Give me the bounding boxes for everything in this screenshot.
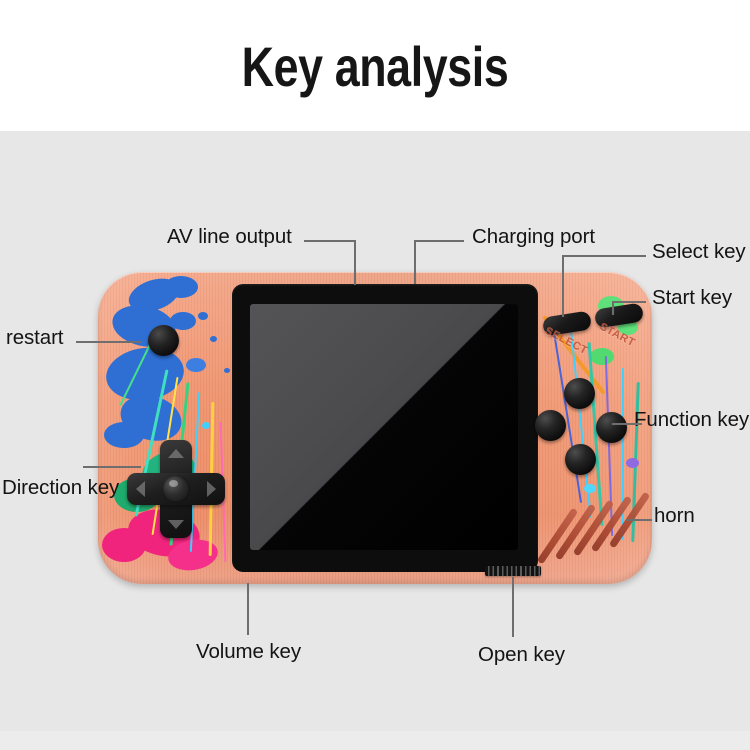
header-bar: Key analysis: [0, 0, 750, 131]
callout-label-function-key: Function key: [634, 409, 749, 431]
product-infographic: Key analysis: [0, 0, 750, 750]
leader-charging-port-h: [414, 240, 464, 242]
callout-label-av-line-output: AV line output: [167, 226, 292, 248]
leader-direction-key-h: [83, 466, 141, 468]
arrow-left-icon: [136, 481, 145, 497]
callout-label-restart: restart: [6, 327, 63, 349]
leader-av-line-output-h: [304, 240, 356, 242]
leader-volume-key-v: [247, 583, 249, 635]
callout-label-select-key: Select key: [652, 241, 746, 263]
dpad-center-hub: [162, 475, 190, 503]
callout-label-start-key: Start key: [652, 287, 732, 309]
leader-horn-h: [626, 519, 652, 521]
arrow-right-icon: [207, 481, 216, 497]
arrow-up-icon: [168, 449, 184, 458]
callout-label-open-key: Open key: [478, 644, 565, 666]
callout-label-charging-port: Charging port: [472, 226, 595, 248]
leader-open-key-v: [512, 577, 514, 637]
action-button-left[interactable]: [535, 410, 566, 441]
callout-label-volume-key: Volume key: [196, 641, 301, 663]
page-title: Key analysis: [75, 36, 675, 98]
lcd-screen[interactable]: [250, 304, 518, 550]
leader-start-key-v: [612, 301, 614, 315]
callout-label-direction-key: Direction key: [2, 477, 119, 499]
action-button-bottom[interactable]: [565, 444, 596, 475]
arrow-down-icon: [168, 520, 184, 529]
leader-restart-h: [76, 341, 142, 343]
leader-start-key-h: [612, 301, 646, 303]
footer-strip: [0, 731, 750, 750]
leader-charging-port-v: [414, 240, 416, 284]
function-button[interactable]: [596, 412, 627, 443]
leader-function-key-h: [612, 423, 642, 425]
leader-select-key-v: [562, 255, 564, 317]
restart-button[interactable]: [148, 325, 179, 356]
leader-av-line-output-v: [354, 240, 356, 285]
callout-label-horn: horn: [654, 505, 695, 527]
direction-pad[interactable]: [127, 440, 225, 538]
screen-bezel: [232, 284, 538, 572]
handheld-console-body: SELECT START: [98, 272, 652, 584]
leader-select-key-h: [562, 255, 646, 257]
speaker-grille: [552, 494, 650, 562]
open-key-switch[interactable]: [485, 566, 541, 576]
action-button-top[interactable]: [564, 378, 595, 409]
